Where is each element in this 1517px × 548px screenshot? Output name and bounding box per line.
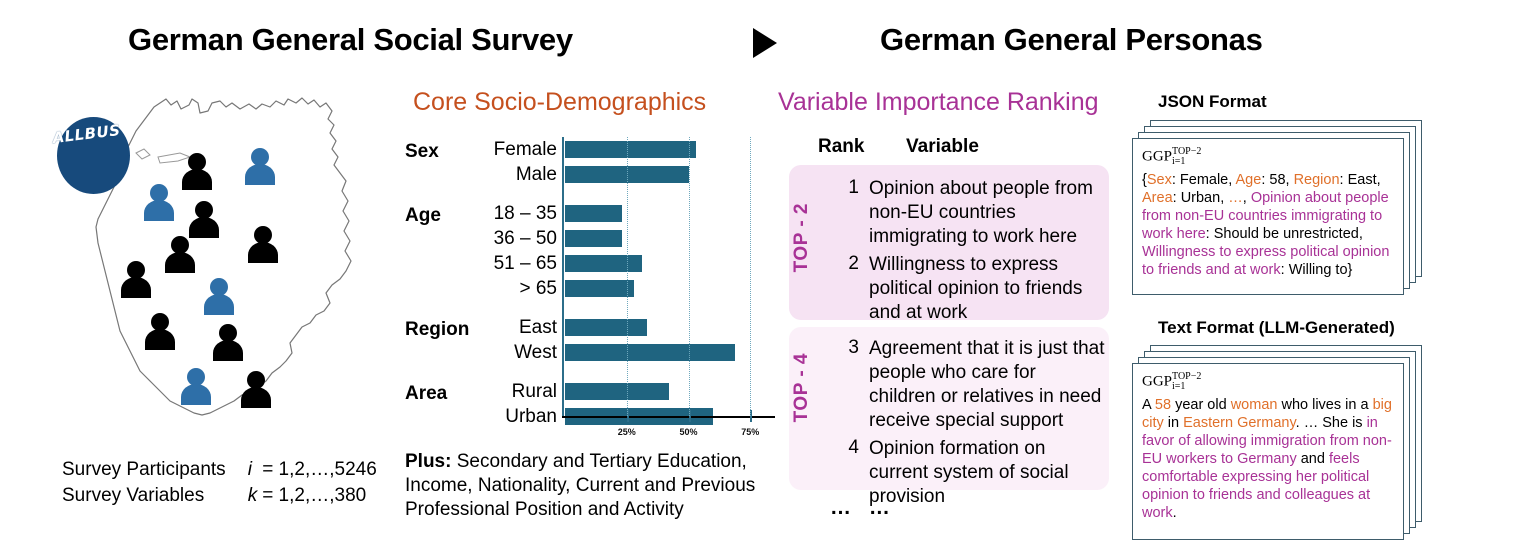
- card-text-segment: in: [1164, 415, 1183, 431]
- text-card: GGPTOP−2i=1 A 58 year old woman who live…: [1132, 363, 1404, 540]
- chart-bar: [565, 230, 622, 247]
- chart-tick-label: 25%: [618, 427, 636, 437]
- chart-bar: [565, 319, 647, 336]
- chart-bar-row: Rural: [405, 381, 775, 402]
- ggp-base: GGP: [1142, 148, 1172, 164]
- chart-bar-row: 18 – 35: [405, 203, 775, 224]
- survey-stats: Survey Participants i = 1,2,…,5246 Surve…: [62, 457, 377, 509]
- ggp-subscript: i=1: [1172, 157, 1201, 167]
- rank-number: 4: [837, 437, 859, 459]
- chart-bar-label: West: [475, 342, 557, 363]
- json-card-body: {Sex: Female, Age: 58, Region: East, Are…: [1142, 171, 1394, 279]
- card-text-segment: ,: [1243, 190, 1251, 206]
- chart-bar-row: Male: [405, 164, 775, 185]
- plus-note-label: Plus:: [405, 451, 451, 472]
- card-text-segment: Area: [1142, 190, 1173, 206]
- text-card-stack: GGPTOP−2i=1 A 58 year old woman who live…: [1132, 345, 1422, 540]
- group-tag-top4: TOP - 4: [791, 353, 813, 422]
- chart-bar: [565, 205, 622, 222]
- chart-tick-label: 50%: [680, 427, 698, 437]
- plus-note: Plus: Secondary and Tertiary Education, …: [405, 450, 785, 522]
- person-icon: [144, 312, 176, 350]
- chart-gridline: [627, 137, 628, 416]
- rank-variable-text: Agreement that it is just that people wh…: [869, 337, 1105, 433]
- person-icon: [120, 260, 152, 298]
- chart-bar-row: 51 – 65: [405, 253, 775, 274]
- card-text-segment: : 58,: [1261, 172, 1293, 188]
- chart-x-axis: [562, 416, 775, 418]
- person-icon: [164, 235, 196, 273]
- text-ggp-label: GGPTOP−2i=1: [1142, 372, 1201, 392]
- socio-demographics-bar-chart: SexFemaleMaleAge18 – 3536 – 5051 – 65> 6…: [405, 135, 775, 435]
- card-text-segment: 58: [1155, 397, 1171, 413]
- chart-bar-row: 36 – 50: [405, 228, 775, 249]
- rank-variable-text: Opinion formation on current system of s…: [869, 437, 1105, 509]
- card-text-segment: woman: [1231, 397, 1278, 413]
- chart-bar-label: East: [475, 317, 557, 338]
- stats-symbol: k: [248, 483, 263, 509]
- chart-bar-label: Female: [475, 139, 557, 160]
- survey-map-panel: ALLBUS: [40, 95, 370, 455]
- chart-bar-label: 51 – 65: [475, 253, 557, 274]
- stats-label: Survey Variables: [62, 483, 248, 509]
- chart-bar: [565, 344, 735, 361]
- chart-bar: [565, 141, 696, 158]
- chart-bar-row: West: [405, 342, 775, 363]
- card-text-segment: year old: [1171, 397, 1231, 413]
- page-title-left: German General Social Survey: [128, 22, 573, 58]
- chart-bar-label: Male: [475, 164, 557, 185]
- group-tag-top2: TOP - 2: [791, 203, 813, 272]
- chart-bar: [565, 383, 669, 400]
- text-card-heading: Text Format (LLM-Generated): [1158, 318, 1395, 338]
- card-text-segment: : East,: [1340, 172, 1381, 188]
- stats-label: Survey Participants: [62, 457, 248, 483]
- rank-variable-text: Willingness to express political opinion…: [869, 253, 1105, 325]
- person-icon: [180, 367, 212, 405]
- card-text-segment: …: [1228, 190, 1243, 206]
- chart-bar-row: East: [405, 317, 775, 338]
- card-text-segment: .: [1173, 505, 1177, 521]
- person-icon: [244, 147, 276, 185]
- card-text-segment: and: [1297, 451, 1329, 467]
- plus-note-text: Secondary and Tertiary Education, Income…: [405, 451, 755, 520]
- json-card: GGPTOP−2i=1 {Sex: Female, Age: 58, Regio…: [1132, 138, 1404, 295]
- chart-bar-label: Urban: [475, 406, 557, 427]
- card-text-segment: Region: [1294, 172, 1340, 188]
- chart-gridline: [689, 137, 690, 416]
- rank-number: 2: [837, 253, 859, 275]
- stats-value: = 1,2,…,380: [262, 483, 377, 509]
- stats-symbol: i: [248, 457, 263, 483]
- ranking-ellipsis: … …: [830, 496, 896, 520]
- json-card-heading: JSON Format: [1158, 92, 1267, 112]
- person-icon: [203, 277, 235, 315]
- stats-value: = 1,2,…,5246: [262, 457, 377, 483]
- column-header-rank: Rank: [818, 136, 864, 158]
- column-header-variable: Variable: [906, 136, 979, 158]
- card-text-segment: who lives in a: [1277, 397, 1372, 413]
- rank-number: 3: [837, 337, 859, 359]
- card-text-segment: Sex: [1147, 172, 1172, 188]
- person-icon: [143, 183, 175, 221]
- chart-tick-label: 75%: [741, 427, 759, 437]
- chart-bar-row: > 65: [405, 278, 775, 299]
- chart-gridline: [750, 137, 751, 416]
- chart-bar-label: Rural: [475, 381, 557, 402]
- chart-bar: [565, 255, 642, 272]
- chart-bar-label: 36 – 50: [475, 228, 557, 249]
- triangle-right-icon: [753, 28, 777, 58]
- stats-row: Survey Variables k = 1,2,…,380: [62, 483, 377, 509]
- person-icon: [240, 370, 272, 408]
- card-text-segment: : Urban,: [1173, 190, 1229, 206]
- rank-number: 1: [837, 177, 859, 199]
- ggp-base: GGP: [1142, 373, 1172, 389]
- person-icon: [181, 152, 213, 190]
- json-ggp-label: GGPTOP−2i=1: [1142, 147, 1201, 167]
- chart-heading: Core Socio-Demographics: [413, 88, 706, 117]
- page-title-right: German General Personas: [880, 22, 1263, 58]
- card-text-segment: . … She is: [1296, 415, 1367, 431]
- card-text-segment: A: [1142, 397, 1155, 413]
- stats-row: Survey Participants i = 1,2,…,5246: [62, 457, 377, 483]
- card-text-segment: : Willing to}: [1281, 262, 1353, 278]
- ranking-heading: Variable Importance Ranking: [778, 88, 1099, 117]
- text-card-body: A 58 year old woman who lives in a big c…: [1142, 396, 1394, 522]
- ranking-group-top2: TOP - 2 1 Opinion about people from non-…: [789, 165, 1109, 320]
- person-icon: [247, 225, 279, 263]
- card-text-segment: Age: [1236, 172, 1262, 188]
- chart-bar-row: Female: [405, 139, 775, 160]
- chart-bar-label: > 65: [475, 278, 557, 299]
- chart-bar: [565, 280, 634, 297]
- card-text-segment: Eastern Germany: [1183, 415, 1296, 431]
- person-icon: [212, 323, 244, 361]
- person-icon: [188, 200, 220, 238]
- json-card-stack: GGPTOP−2i=1 {Sex: Female, Age: 58, Regio…: [1132, 120, 1422, 295]
- ranking-group-top4: TOP - 4 3 Agreement that it is just that…: [789, 327, 1109, 490]
- card-text-segment: : Female,: [1172, 172, 1236, 188]
- chart-bar-label: 18 – 35: [475, 203, 557, 224]
- rank-variable-text: Opinion about people from non-EU countri…: [869, 177, 1105, 249]
- ggp-subscript: i=1: [1172, 382, 1201, 392]
- card-text-segment: : Should be unrestricted,: [1206, 226, 1363, 242]
